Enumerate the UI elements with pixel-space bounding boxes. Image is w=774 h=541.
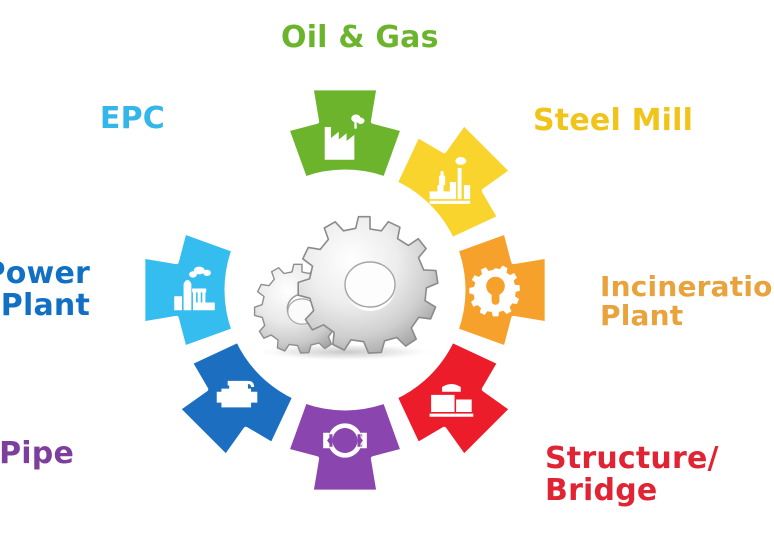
label-oil-gas: Oil & Gas [281, 22, 439, 54]
label-pipe: Pipe [0, 438, 74, 470]
segment-steel-mill[interactable] [395, 123, 512, 240]
segment-pipe[interactable] [287, 401, 403, 492]
segment-oil-gas[interactable] [287, 88, 403, 179]
label-steel-mill: Steel Mill [533, 105, 693, 137]
label-structure-bridge: Structure/ Bridge [545, 443, 719, 506]
label-incineration-plant: Incineration Plant [600, 272, 774, 331]
label-power-plant: Power Plant [0, 258, 90, 321]
diagram-canvas: Oil & GasSteel MillIncineration PlantStr… [0, 0, 774, 541]
gears-icon [253, 217, 438, 361]
label-epc: EPC [100, 103, 165, 135]
